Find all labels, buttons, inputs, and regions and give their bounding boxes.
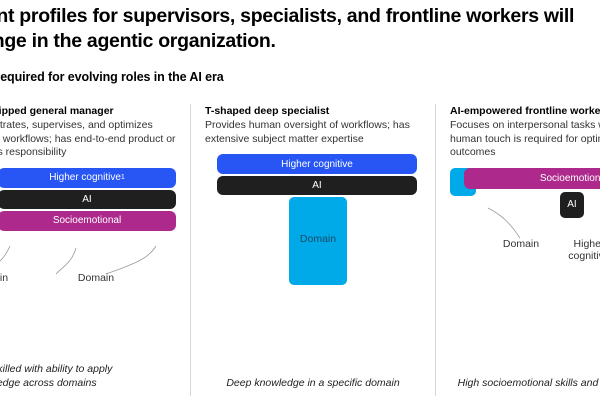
column-caption: Deep knowledge in a specific domain xyxy=(205,376,421,390)
higher-cognitive-block-label: Higher cognitive xyxy=(562,238,600,262)
page-subtitle: Skills required for evolving roles in th… xyxy=(0,70,600,84)
bar-label: AI xyxy=(312,180,321,191)
column-description: Focuses on interpersonal tasks where hum… xyxy=(450,119,600,160)
column-heading: AI-equipped general manager xyxy=(0,104,176,118)
column-graphic: Higher cognitive AI Domain xyxy=(205,154,421,396)
domain-block: Domain xyxy=(289,197,347,285)
bar-higher-cognitive: Higher cognitive xyxy=(217,154,417,174)
column-description: Provides human oversight of workflows; h… xyxy=(205,119,421,146)
bar-label: Higher cognitive xyxy=(49,172,121,183)
domain-block-label: Domain xyxy=(66,272,126,284)
column-heading: T-shaped deep specialist xyxy=(205,104,421,118)
column-graphic: Socioemotional AI Domain Higher cognitiv… xyxy=(450,168,600,397)
column-t-shaped-deep-specialist: T-shaped deep specialist Provides human … xyxy=(190,104,435,396)
column-ai-empowered-frontline-worker: AI-empowered frontline worker Focuses on… xyxy=(435,104,600,396)
page-title-line1: Talent profiles for supervisors, special… xyxy=(0,5,574,27)
page-title-line2: change in the agentic organization. xyxy=(0,29,600,54)
profile-columns: AI-equipped general manager Orchestrates… xyxy=(0,104,600,396)
bar-higher-cognitive: Higher cognitive1 xyxy=(0,168,176,188)
bar-ai: AI xyxy=(217,176,417,195)
column-caption: High socioemotional skills and basic AI … xyxy=(444,376,600,390)
bar-label: Socioemotional xyxy=(53,215,121,226)
domain-block-label: Domain xyxy=(486,238,556,250)
bar-label: Socioemotional xyxy=(540,173,600,184)
bar-socioemotional: Socioemotional xyxy=(0,211,176,231)
domain-block-label: Domain xyxy=(289,233,347,245)
ai-block-label: AI xyxy=(567,199,576,210)
bar-label: Higher cognitive xyxy=(281,159,353,170)
domain-block-label: Domain xyxy=(0,272,20,284)
slide: Talent profiles for supervisors, special… xyxy=(0,0,600,400)
page-title: Talent profiles for supervisors, special… xyxy=(0,4,600,54)
bar-ai: AI xyxy=(0,190,176,209)
column-ai-equipped-general-manager: AI-equipped general manager Orchestrates… xyxy=(0,104,190,396)
bar-socioemotional: Socioemotional xyxy=(464,168,600,189)
column-heading: AI-empowered frontline worker xyxy=(450,104,600,118)
column-caption: Multiskilled with ability to apply knowl… xyxy=(0,362,162,390)
column-description: Orchestrates, supervises, and optimizes … xyxy=(0,119,176,160)
ai-block: AI xyxy=(560,192,584,218)
heading-block: Talent profiles for supervisors, special… xyxy=(0,4,600,84)
bar-label: AI xyxy=(82,194,91,205)
